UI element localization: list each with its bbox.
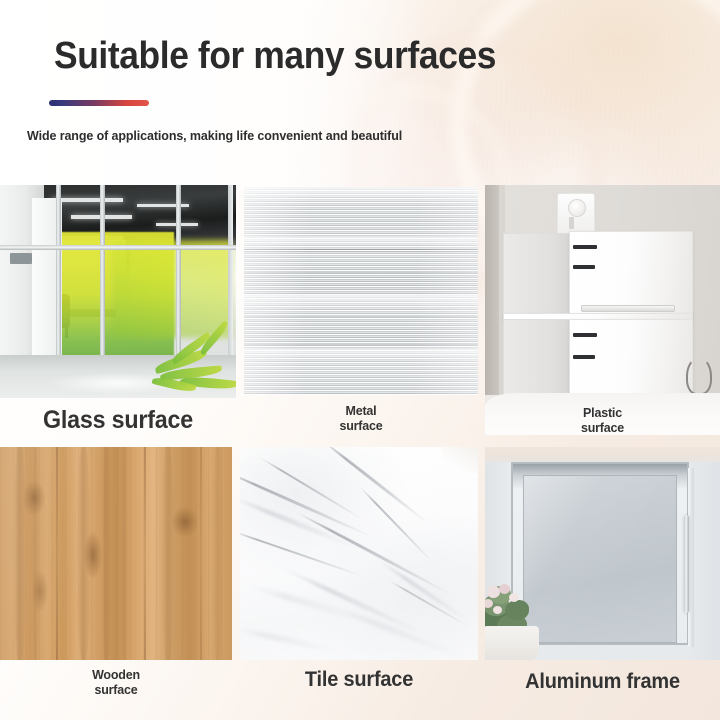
glass-surface-image [0, 185, 236, 398]
tile-wooden-label-line1: Wooden [5, 668, 228, 683]
tile-metal-label: Metal surface [249, 404, 474, 433]
tile-aluminum-label: Aluminum frame [491, 670, 714, 694]
tile-wooden[interactable] [0, 447, 232, 660]
plastic-surface-image [485, 185, 720, 435]
tile-plastic-label: Plastic surface [490, 406, 716, 435]
header: Suitable for many surfaces Wide range of… [0, 0, 720, 186]
accent-bar [49, 100, 149, 106]
tile-wooden-label-line2: surface [5, 683, 228, 698]
tile-wooden-label: Wooden surface [5, 668, 228, 697]
tile-plastic-label-line1: Plastic [490, 406, 716, 421]
tile-metal-label-line1: Metal [249, 404, 474, 419]
tile-surface-image [240, 447, 478, 660]
tile-glass-label: Glass surface [8, 406, 227, 434]
aluminum-frame-image [485, 447, 720, 660]
tile-marble-label: Tile surface [246, 668, 472, 692]
tile-metal[interactable] [244, 187, 478, 395]
tile-aluminum[interactable] [485, 447, 720, 660]
tile-metal-label-line2: surface [249, 419, 474, 434]
tile-plastic-label-line2: surface [490, 421, 716, 436]
page-subtitle: Wide range of applications, making life … [27, 128, 402, 143]
wooden-surface-image [0, 447, 232, 660]
promotional-banner: Suitable for many surfaces Wide range of… [0, 0, 720, 720]
page-title: Suitable for many surfaces [54, 35, 496, 78]
tile-marble[interactable] [240, 447, 478, 660]
tile-glass[interactable] [0, 185, 236, 398]
tile-plastic[interactable] [485, 185, 720, 435]
metal-surface-image [244, 187, 478, 395]
